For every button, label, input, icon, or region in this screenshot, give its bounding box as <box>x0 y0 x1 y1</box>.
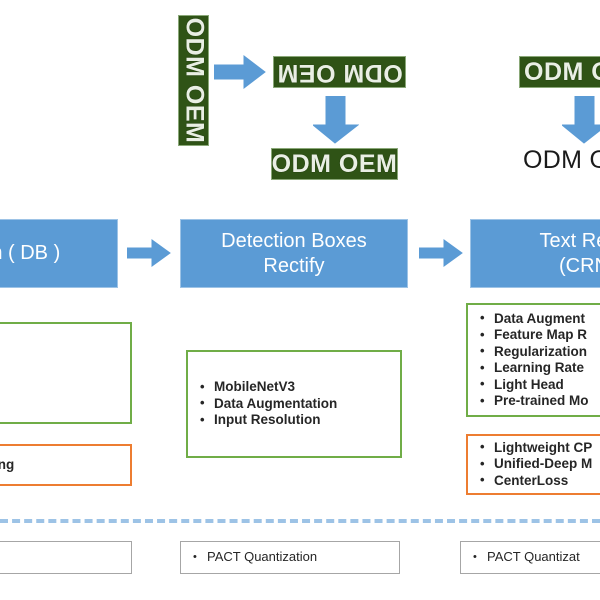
sample-chip-right-text: ODM OEM <box>524 58 600 87</box>
strategy-list-left-green: g Rate Decay Warm-up <box>0 357 124 390</box>
list-item: Feature Map R <box>472 327 600 344</box>
strategy-card-right-green: Data Augment Feature Map R Regularizatio… <box>466 303 600 417</box>
quantization-card-middle: PACT Quantization <box>180 541 400 574</box>
sample-chip-upside-down: ODM OEM <box>273 56 406 88</box>
strategy-card-middle-green: MobileNetV3 Data Augmentation Input Reso… <box>186 350 402 458</box>
list-item: Pre-trained Mo <box>472 393 600 410</box>
strategy-card-left-green: g Rate Decay Warm-up <box>0 322 132 424</box>
arrow-recognize-down-icon <box>562 96 600 144</box>
strategy-list-right-orange: Lightweight CP Unified-Deep M CenterLoss <box>472 440 600 490</box>
list-item: Learning Rate <box>472 360 600 377</box>
arrow-rectify-to-recognize-icon <box>419 239 463 267</box>
process-box-detection-boxes-rectify[interactable]: Detection Boxes Rectify <box>180 219 408 288</box>
quantization-list-right: PACT Quantizat <box>465 549 600 566</box>
quantization-list-middle: PACT Quantization <box>185 549 393 566</box>
list-item: CenterLoss <box>472 473 600 490</box>
process-box-recognition-line-2: (CRN <box>540 254 600 279</box>
list-item: Unified-Deep M <box>472 456 600 473</box>
strategy-list-left-orange: Mutual Learning <box>0 457 124 474</box>
sample-chip-rectified: ODM OEM <box>271 148 398 180</box>
quantization-card-right: PACT Quantizat <box>460 541 600 574</box>
sample-plain-text-right: ODM OEM <box>523 146 600 175</box>
sample-chip-vertical-text: ODM OEM <box>179 18 208 144</box>
process-box-text-detection-line-1: ion ( DB ) <box>0 241 60 266</box>
sample-chip-upside-down-text: ODM OEM <box>277 58 403 87</box>
strategy-list-right-green: Data Augment Feature Map R Regularizatio… <box>472 311 600 410</box>
list-item: Data Augment <box>472 311 600 328</box>
sample-chip-rectified-text: ODM OEM <box>272 150 398 179</box>
list-item: Input Resolution <box>192 412 394 429</box>
list-item: Light Head <box>472 377 600 394</box>
diagram-canvas: ODM OEM ODM OEM ODM OEM ODM OEM ODM OEM … <box>0 0 600 600</box>
arrow-rotate-right-icon <box>214 55 266 89</box>
process-box-text-detection[interactable]: ion ( DB ) <box>0 219 118 288</box>
process-box-rectify-line-2: Rectify <box>221 254 367 279</box>
sample-chip-right: ODM OEM <box>519 56 600 88</box>
quantization-card-left <box>0 541 132 574</box>
strategy-card-left-orange: Mutual Learning <box>0 444 132 486</box>
strategy-list-middle-green: MobileNetV3 Data Augmentation Input Reso… <box>192 379 394 429</box>
list-item: Mutual Learning <box>0 457 124 474</box>
list-item: PACT Quantizat <box>465 549 600 566</box>
process-box-rectify-line-1: Detection Boxes <box>221 229 367 254</box>
dashed-separator <box>0 519 600 523</box>
list-item: Warm-up <box>0 373 124 390</box>
list-item: MobileNetV3 <box>192 379 394 396</box>
sample-chip-vertical: ODM OEM <box>178 15 209 146</box>
strategy-card-right-orange: Lightweight CP Unified-Deep M CenterLoss <box>466 434 600 495</box>
arrow-flip-down-icon <box>313 96 359 144</box>
list-item: Data Augmentation <box>192 396 394 413</box>
process-box-text-recognition[interactable]: Text Reco (CRN <box>470 219 600 288</box>
process-box-recognition-line-1: Text Reco <box>540 229 600 254</box>
list-item: PACT Quantization <box>185 549 393 566</box>
list-item: g Rate Decay <box>0 357 124 374</box>
list-item: Lightweight CP <box>472 440 600 457</box>
arrow-detect-to-rectify-icon <box>127 239 171 267</box>
list-item: Regularization <box>472 344 600 361</box>
